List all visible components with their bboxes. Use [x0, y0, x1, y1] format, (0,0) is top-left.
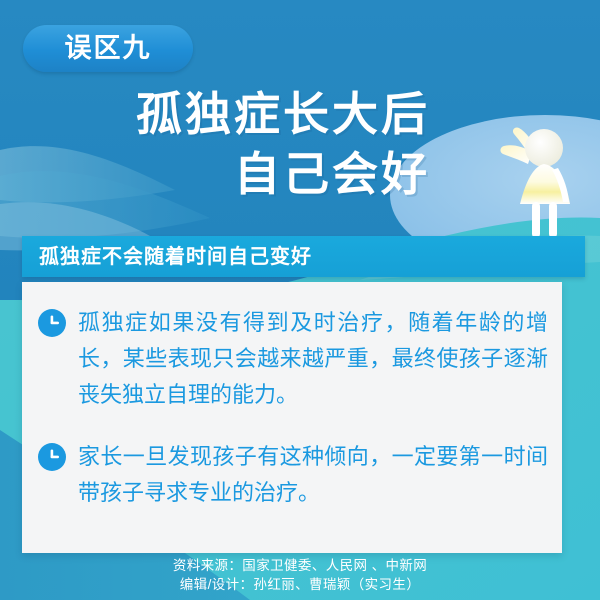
poster-canvas: 误区九 孤独症长大后 自己会好 孤独症不会随着时间自己变好	[0, 0, 600, 600]
footer-credit-line: 编辑/设计：孙红丽、曹瑞颖（实习生）	[0, 575, 600, 594]
misconception-badge: 误区九	[23, 25, 193, 72]
clock-icon	[38, 309, 66, 337]
subtitle-label: 孤独症不会随着时间自己变好	[22, 247, 312, 267]
title-line-2: 自己会好	[0, 144, 430, 204]
subtitle-bar: 孤独症不会随着时间自己变好	[22, 236, 585, 277]
waving-child-figure-icon	[470, 108, 592, 240]
badge-label: 误区九	[65, 35, 152, 62]
bullet-item: 家长一旦发现孩子有这种倾向，一定要第一时间带孩子寻求专业的治疗。	[22, 413, 562, 511]
bullet-item: 孤独症如果没有得到及时治疗，随着年龄的增长，某些表现只会越来越严重，最终使孩子逐…	[22, 282, 562, 413]
clock-icon	[38, 443, 66, 471]
bullet-text: 家长一旦发现孩子有这种倾向，一定要第一时间带孩子寻求专业的治疗。	[78, 439, 548, 511]
footer-credits: 资料来源：国家卫健委、人民网 、中新网 编辑/设计：孙红丽、曹瑞颖（实习生）	[0, 556, 600, 594]
title-line-1: 孤独症长大后	[0, 84, 430, 144]
content-card: 孤独症如果没有得到及时治疗，随着年龄的增长，某些表现只会越来越严重，最终使孩子逐…	[22, 282, 562, 553]
footer-source-line: 资料来源：国家卫健委、人民网 、中新网	[0, 556, 600, 575]
main-title: 孤独症长大后 自己会好	[0, 84, 430, 204]
bullet-text: 孤独症如果没有得到及时治疗，随着年龄的增长，某些表现只会越来越严重，最终使孩子逐…	[78, 305, 548, 413]
